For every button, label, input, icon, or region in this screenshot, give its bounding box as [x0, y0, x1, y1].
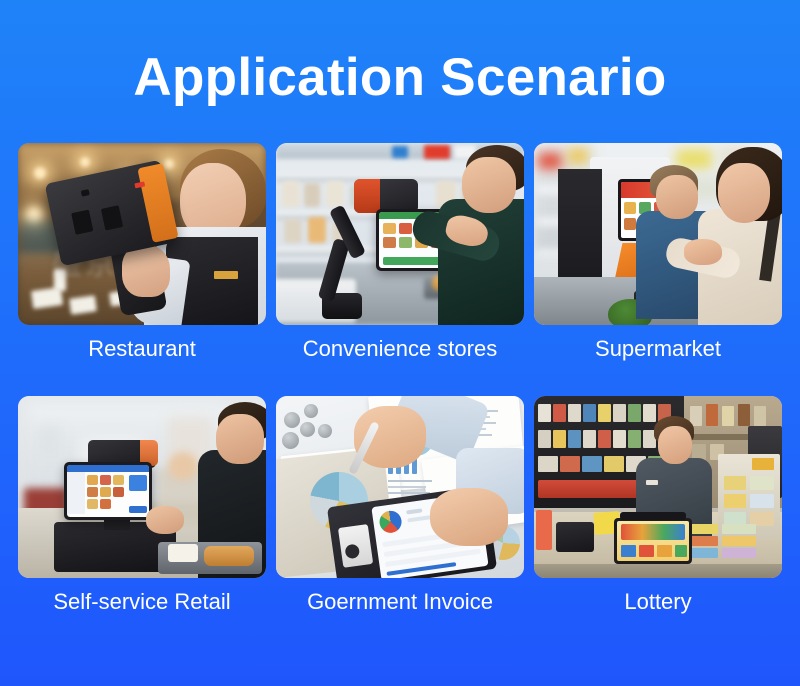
self-service-retail-photo	[18, 396, 266, 578]
lottery-tablet	[614, 518, 692, 564]
pos-tablet	[64, 462, 152, 520]
scenario-cell-goernment-invoice[interactable]: Goernment Invoice	[276, 396, 524, 617]
scenario-cell-convenience-stores[interactable]: Convenience stores	[276, 143, 524, 364]
scenario-card-lottery[interactable]	[534, 396, 782, 578]
scenario-card-restaurant[interactable]: 盛京智能	[18, 143, 266, 325]
scenario-cell-restaurant[interactable]: 盛京智能	[18, 143, 266, 364]
scenario-card-self-service-retail[interactable]	[18, 396, 266, 578]
scenario-label-lottery: Lottery	[534, 587, 782, 617]
scenario-row-2: Self-service Retail	[18, 396, 782, 617]
convenience-store-photo	[276, 143, 524, 325]
scenario-card-goernment-invoice[interactable]	[276, 396, 524, 578]
scenario-label-restaurant: Restaurant	[18, 334, 266, 364]
scenario-label-supermarket: Supermarket	[534, 334, 782, 364]
supermarket-photo	[534, 143, 782, 325]
application-scenario-page: Application Scenario	[0, 0, 800, 686]
restaurant-photo: 盛京智能	[18, 143, 266, 325]
customer-person	[696, 147, 782, 325]
goernment-invoice-photo	[276, 396, 524, 578]
scenario-row-1: 盛京智能	[18, 143, 782, 364]
scenario-cell-self-service-retail[interactable]: Self-service Retail	[18, 396, 266, 617]
page-title: Application Scenario	[0, 47, 800, 109]
scenario-cell-lottery[interactable]: Lottery	[534, 396, 782, 617]
lottery-photo	[534, 396, 782, 578]
scenario-cell-supermarket[interactable]: Supermarket	[534, 143, 782, 364]
scenario-label-goernment-invoice: Goernment Invoice	[276, 587, 524, 617]
card-reader	[556, 522, 594, 552]
scenario-grid: 盛京智能	[18, 143, 782, 617]
scenario-label-convenience-stores: Convenience stores	[276, 334, 524, 364]
scenario-card-supermarket[interactable]	[534, 143, 782, 325]
scenario-card-convenience-stores[interactable]	[276, 143, 524, 325]
scenario-label-self-service-retail: Self-service Retail	[18, 587, 266, 617]
